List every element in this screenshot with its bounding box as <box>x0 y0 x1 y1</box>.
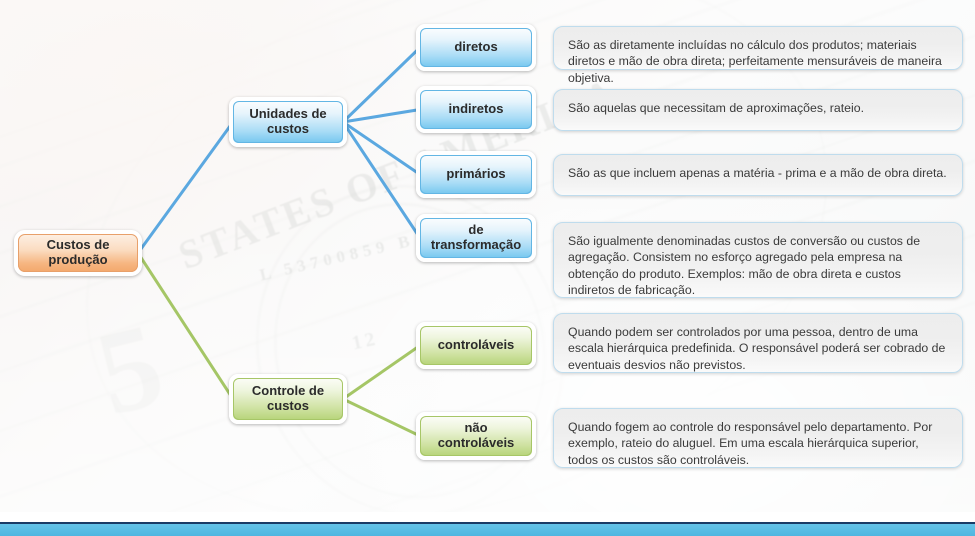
node-nao-controlaveis-label: não controláveis <box>438 421 515 451</box>
connector-line <box>343 399 420 436</box>
footer-white-gap <box>0 512 975 522</box>
description-de-transformacao: São igualmente denominadas custos de con… <box>553 222 963 298</box>
description-indiretos: São aquelas que necessitam de aproximaçõ… <box>553 89 963 131</box>
connector-line <box>343 122 420 175</box>
node-diretos[interactable]: diretos <box>416 24 536 71</box>
connector-line <box>138 122 233 253</box>
node-unidades-label-line1: Unidades de <box>249 106 326 121</box>
node-controle-label-line2: custos <box>267 398 309 413</box>
node-unidades-label-line2: custos <box>267 121 309 136</box>
node-controle-label-line1: Controle de <box>252 383 324 398</box>
node-indiretos-label: indiretos <box>449 102 504 117</box>
node-controle-label: Controle de custos <box>252 384 324 414</box>
footer-cyan-bar <box>0 524 975 536</box>
node-root[interactable]: Custos de produção <box>14 230 142 276</box>
node-de-transformacao-label-line2: transformação <box>431 237 521 252</box>
node-root-label: Custos de produção <box>24 238 132 268</box>
node-nao-controlaveis-label-line1: não <box>464 420 487 435</box>
connector-line <box>138 253 233 399</box>
connector-line <box>343 122 420 238</box>
node-diretos-label: diretos <box>454 40 497 55</box>
node-indiretos[interactable]: indiretos <box>416 86 536 133</box>
node-primarios[interactable]: primários <box>416 151 536 198</box>
node-controlaveis-label: controláveis <box>438 338 515 353</box>
connector-line <box>343 346 420 400</box>
description-controlaveis: Quando podem ser controlados por uma pes… <box>553 313 963 373</box>
description-diretos: São as diretamente incluídas no cálculo … <box>553 26 963 70</box>
node-unidades-label: Unidades de custos <box>249 107 326 137</box>
node-primarios-label: primários <box>446 167 505 182</box>
node-unidades-de-custos[interactable]: Unidades de custos <box>229 97 347 147</box>
connector-group-unidades <box>138 48 420 254</box>
node-de-transformacao-label: de transformação <box>431 223 521 253</box>
node-de-transformacao-label-line1: de <box>468 222 483 237</box>
description-nao-controlaveis: Quando fogem ao controle do responsável … <box>553 408 963 468</box>
node-controle-de-custos[interactable]: Controle de custos <box>229 374 347 424</box>
node-de-transformacao[interactable]: de transformação <box>416 214 536 262</box>
node-nao-controlaveis-label-line2: controláveis <box>438 435 515 450</box>
slide-canvas: STATES OF AMERICA L 53700859 B 12 5 Cust… <box>0 0 975 536</box>
description-primarios: São as que incluem apenas a matéria - pr… <box>553 154 963 196</box>
node-controlaveis[interactable]: controláveis <box>416 322 536 369</box>
node-nao-controlaveis[interactable]: não controláveis <box>416 412 536 460</box>
